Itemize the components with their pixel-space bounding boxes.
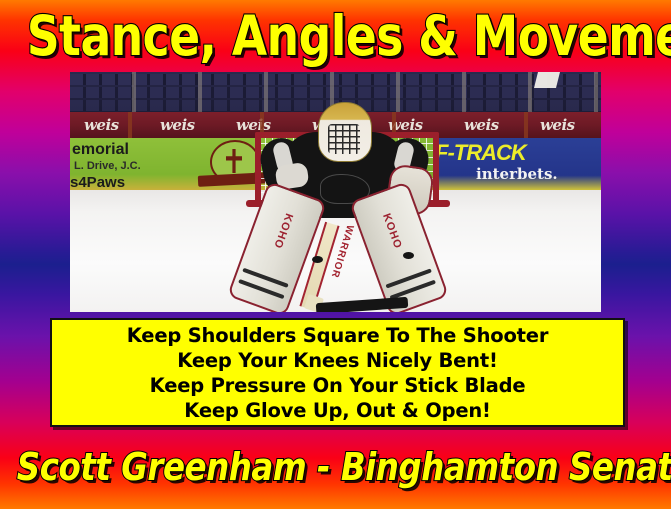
tip-line-3: Keep Pressure On Your Stick Blade bbox=[150, 373, 526, 398]
coaching-tips-box: Keep Shoulders Square To The Shooter Kee… bbox=[50, 318, 625, 427]
pad-brand-left: KOHO bbox=[271, 212, 295, 251]
offtrack-ad-line2: interbets. bbox=[476, 165, 558, 183]
green-ad-line3: s4Paws bbox=[70, 174, 125, 190]
ice-mark bbox=[312, 256, 323, 263]
dasher-ad-weis: weis bbox=[160, 116, 195, 134]
goalie-figure: KOHO KOHO WARRIOR bbox=[220, 102, 470, 312]
stick-brand: WARRIOR bbox=[329, 223, 356, 279]
green-ad-line1: emorial bbox=[72, 141, 129, 159]
goalie-photo: weis weis weis weis weis weis weis emori… bbox=[70, 72, 601, 312]
ice-mark bbox=[403, 252, 414, 259]
dasher-post bbox=[524, 112, 528, 138]
dasher-post bbox=[128, 112, 132, 138]
pad-brand-right: KOHO bbox=[380, 212, 404, 251]
player-credit: Scott Greenham - Binghamton Senators bbox=[17, 436, 654, 498]
tip-line-1: Keep Shoulders Square To The Shooter bbox=[127, 323, 549, 348]
tip-line-2: Keep Your Knees Nicely Bent! bbox=[177, 348, 497, 373]
goalie-leg-pad-right: KOHO bbox=[349, 181, 449, 312]
white-banner bbox=[534, 72, 560, 88]
dasher-ad-weis: weis bbox=[84, 116, 119, 134]
green-ad-line2: L. Drive, J.C. bbox=[74, 160, 141, 172]
tip-line-4: Keep Glove Up, Out & Open! bbox=[184, 398, 490, 423]
dasher-ad-weis: weis bbox=[540, 116, 575, 134]
mask-cage-icon bbox=[328, 124, 360, 154]
poster-root: Stance, Angles & Movement weis weis weis… bbox=[0, 0, 671, 509]
page-title: Stance, Angles & Movement bbox=[27, 5, 644, 67]
